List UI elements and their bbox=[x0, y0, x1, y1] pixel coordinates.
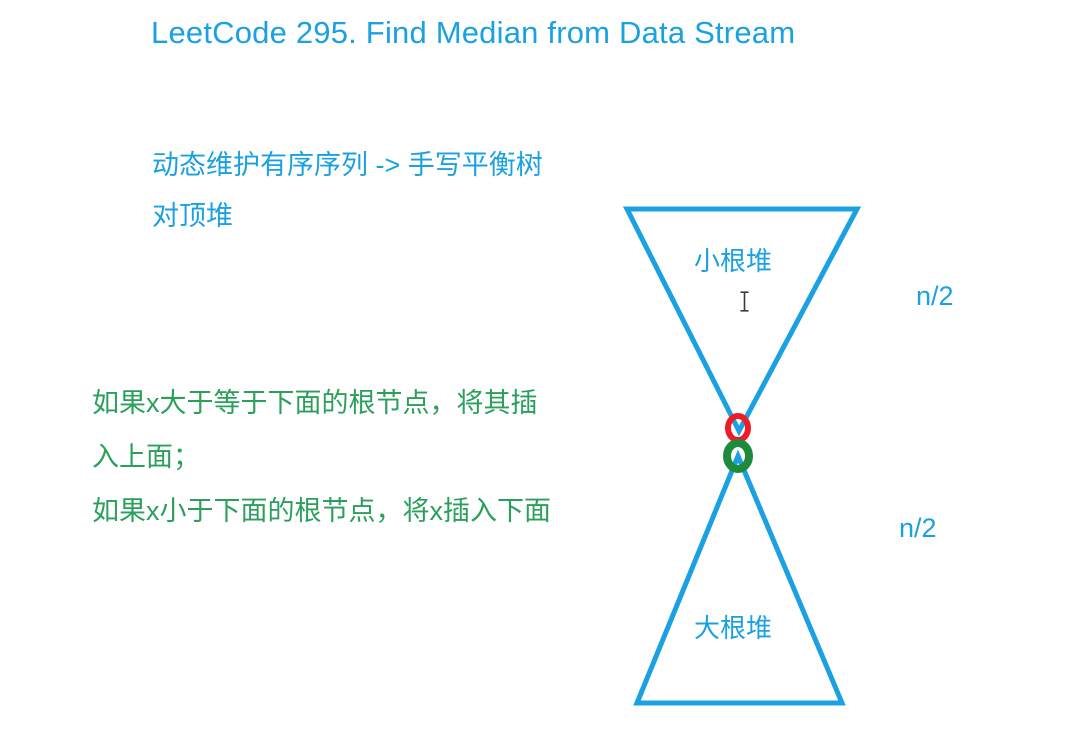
page-title: LeetCode 295. Find Median from Data Stre… bbox=[151, 13, 795, 53]
green-note-line-2: 入上面； bbox=[92, 430, 551, 484]
min-heap-triangle bbox=[627, 209, 857, 431]
text-caret-cursor bbox=[738, 291, 751, 312]
max-heap-size-label: n/2 bbox=[899, 511, 937, 545]
blue-note-block: 动态维护有序序列 -> 手写平衡树 对顶堆 bbox=[152, 140, 543, 242]
blue-note-line-1: 动态维护有序序列 -> 手写平衡树 bbox=[152, 140, 543, 191]
min-heap-size-label: n/2 bbox=[916, 279, 954, 313]
max-heap-label: 大根堆 bbox=[694, 611, 772, 645]
blue-note-line-2: 对顶堆 bbox=[152, 191, 543, 242]
whiteboard-canvas: LeetCode 295. Find Median from Data Stre… bbox=[0, 0, 1078, 735]
max-heap-triangle bbox=[637, 456, 842, 703]
green-note-line-3: 如果x小于下面的根节点，将x插入下面 bbox=[92, 484, 551, 538]
green-note-line-1: 如果x大于等于下面的根节点，将其插 bbox=[92, 376, 551, 430]
green-note-block: 如果x大于等于下面的根节点，将其插 入上面； 如果x小于下面的根节点，将x插入下… bbox=[92, 376, 551, 538]
min-heap-label: 小根堆 bbox=[694, 244, 772, 278]
two-heaps-diagram bbox=[600, 190, 1020, 730]
